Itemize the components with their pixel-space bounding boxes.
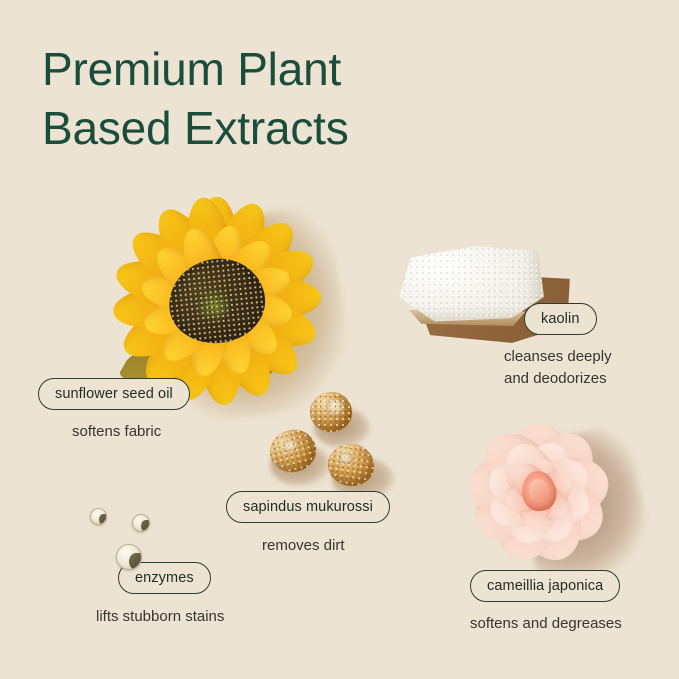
caption-sapindus-mukurossi: removes dirt [262,535,345,557]
pill-label: sunflower seed oil [55,386,173,402]
caption-cameillia-japonica: softens and degreases [470,613,622,635]
soap-nuts-image [270,392,400,498]
caption-sunflower-seed-oil: softens fabric [72,421,161,443]
pill-sapindus-mukurossi[interactable]: sapindus mukurossi [226,491,390,523]
pill-kaolin[interactable]: kaolin [524,303,597,335]
enzyme-bead [90,508,107,525]
pill-label: enzymes [135,570,194,586]
pill-label: kaolin [541,311,580,327]
pill-cameillia-japonica[interactable]: cameillia japonica [470,570,620,602]
pill-label: cameillia japonica [487,578,603,594]
caption-kaolin: cleanses deeply and deodorizes [504,346,612,390]
pill-sunflower-seed-oil[interactable]: sunflower seed oil [38,378,190,410]
pill-label: sapindus mukurossi [243,499,373,515]
camellia-flower-image [446,408,632,578]
caption-enzymes: lifts stubborn stains [96,606,224,628]
sunflower-seed-disc [165,254,269,348]
enzyme-bead [116,544,142,570]
soap-nut [310,392,352,432]
page-title: Premium Plant Based Extracts [42,40,602,158]
kaolin-rock-image [396,246,576,351]
enzyme-beads-image [80,500,190,572]
product-ingredients-infographic: Premium Plant Based Extracts [0,0,679,679]
enzyme-bead [132,514,150,532]
